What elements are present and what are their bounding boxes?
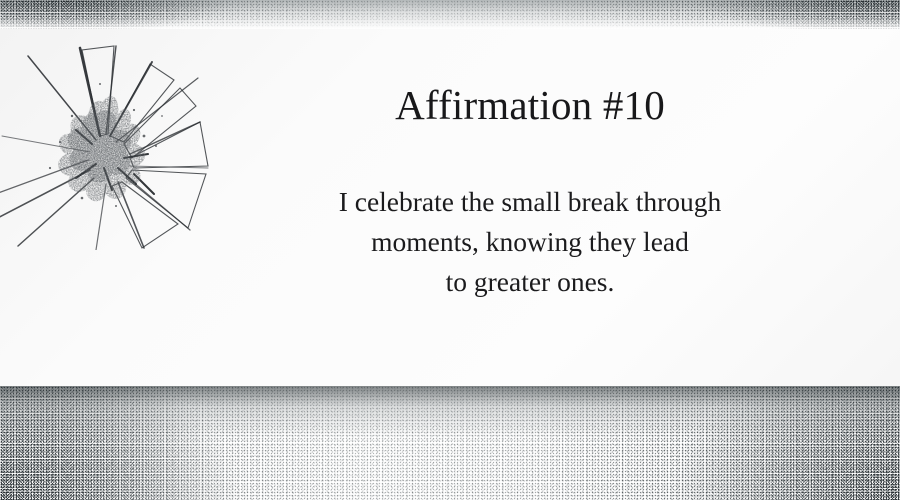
affirmation-line-2: moments, knowing they lead [240, 222, 820, 262]
top-border-texture [0, 0, 900, 29]
page-title: Affirmation #10 [240, 85, 820, 126]
text-block: Affirmation #10 I celebrate the small br… [240, 29, 820, 386]
affirmation-line-3: to greater ones. [240, 262, 820, 302]
affirmation-line-1: I celebrate the small break through [240, 182, 820, 222]
top-speckle-corner-layer [0, 0, 900, 29]
bottom-speckle-corner-layer [0, 386, 900, 500]
bottom-border-texture [0, 386, 900, 500]
affirmation-body: I celebrate the small break through mome… [240, 182, 820, 302]
affirmation-slide: Affirmation #10 I celebrate the small br… [0, 0, 900, 500]
